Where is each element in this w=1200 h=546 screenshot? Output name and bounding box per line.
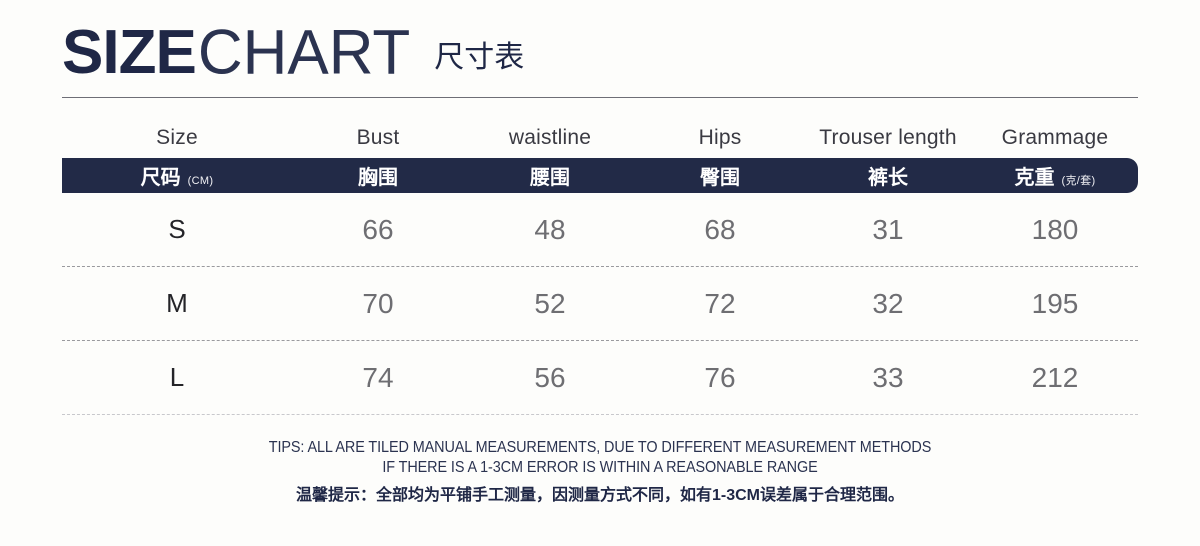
tips-english-line-1: TIPS: ALL ARE TILED MANUAL MEASUREMENTS,… [42, 438, 1158, 458]
row-hips-value: 72 [636, 288, 804, 320]
table-row: S 66 48 68 31 180 [62, 193, 1138, 266]
tips-english-line-2: IF THERE IS A 1-3CM ERROR IS WITHIN A RE… [42, 458, 1158, 478]
table-row: M 70 52 72 32 195 [62, 267, 1138, 340]
row-waistline-value: 56 [464, 362, 636, 394]
header-cn-trouser-length: 裤长 [804, 161, 972, 190]
size-chart-page: SIZE CHART 尺寸表 Size Bust waistline Hips … [0, 0, 1200, 546]
row-waistline-value: 48 [464, 214, 636, 246]
header-cn-grammage-label: 克重 [1015, 161, 1055, 190]
row-size-label: M [62, 288, 292, 319]
title-divider [62, 97, 1138, 98]
header-cn-size-unit: (CM) [188, 175, 214, 187]
table-header-english: Size Bust waistline Hips Trouser length … [62, 118, 1138, 158]
header-en-hips: Hips [636, 126, 804, 150]
row-grammage-value: 212 [972, 362, 1138, 394]
row-bust-value: 74 [292, 362, 464, 394]
row-grammage-value: 195 [972, 288, 1138, 320]
header-cn-size: 尺码 (CM) [62, 161, 292, 190]
header-cn-grammage-unit: (克/套) [1062, 172, 1096, 188]
table-bottom-divider [62, 414, 1138, 415]
header-cn-grammage: 克重 (克/套) [972, 161, 1138, 190]
row-trouser-length-value: 33 [804, 362, 972, 394]
header-en-bust: Bust [292, 126, 464, 150]
title-chart-word: CHART [198, 21, 410, 84]
header-en-waistline: waistline [464, 126, 636, 150]
header-cn-size-label: 尺码 [141, 161, 181, 190]
table-row: L 74 56 76 33 212 [62, 341, 1138, 414]
title-chinese: 尺寸表 [434, 43, 524, 73]
row-trouser-length-value: 31 [804, 214, 972, 246]
tips-block: TIPS: ALL ARE TILED MANUAL MEASUREMENTS,… [0, 438, 1200, 507]
header-en-trouser-length: Trouser length [804, 126, 972, 150]
row-bust-value: 66 [292, 214, 464, 246]
row-bust-value: 70 [292, 288, 464, 320]
page-title: SIZE CHART 尺寸表 [62, 22, 524, 84]
header-cn-waistline: 腰围 [464, 161, 636, 190]
header-cn-bust: 胸围 [292, 161, 464, 190]
tips-chinese-line: 温馨提示：全部均为平铺手工测量，因测量方式不同，如有1-3CM误差属于合理范围。 [0, 486, 1200, 507]
row-size-label: S [62, 214, 292, 245]
row-hips-value: 68 [636, 214, 804, 246]
size-table: Size Bust waistline Hips Trouser length … [62, 118, 1138, 415]
row-hips-value: 76 [636, 362, 804, 394]
title-size-word: SIZE [62, 22, 196, 84]
row-grammage-value: 180 [972, 214, 1138, 246]
row-trouser-length-value: 32 [804, 288, 972, 320]
header-en-grammage: Grammage [972, 126, 1138, 150]
header-en-size: Size [62, 126, 292, 150]
table-header-chinese-band: 尺码 (CM) 胸围 腰围 臀围 裤长 克重 (克/套) [62, 158, 1138, 193]
row-size-label: L [62, 362, 292, 393]
header-cn-hips: 臀围 [636, 161, 804, 190]
row-waistline-value: 52 [464, 288, 636, 320]
